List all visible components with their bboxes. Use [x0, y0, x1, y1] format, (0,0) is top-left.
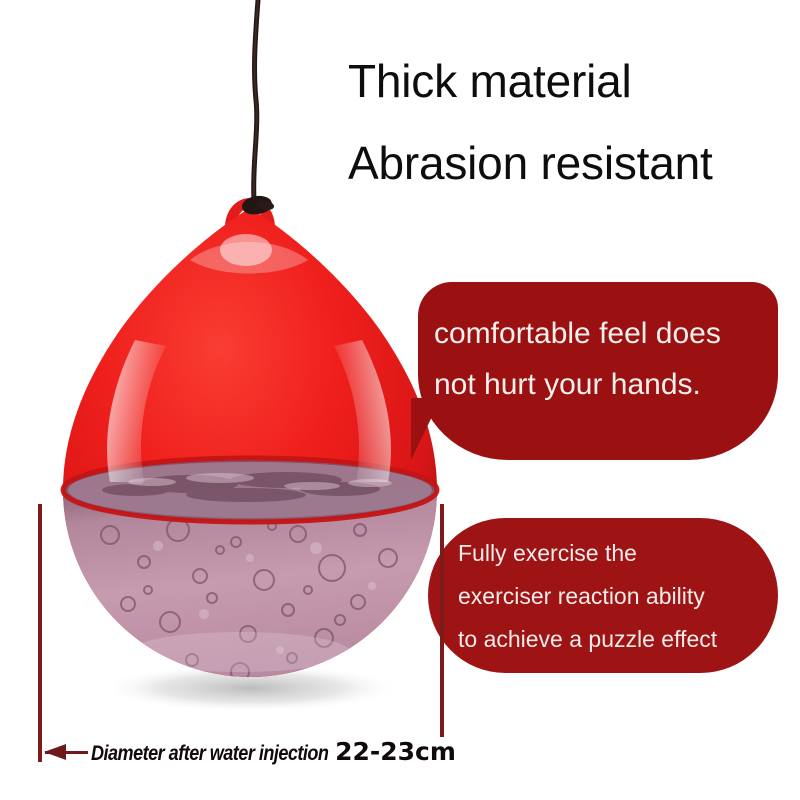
pill-callout-line-1: Fully exercise the [458, 532, 752, 575]
headline-line-2: Abrasion resistant [348, 140, 713, 186]
speech-bubble-callout: comfortable feel does not hurt your hand… [418, 282, 778, 460]
left-arrowhead-icon [44, 744, 66, 760]
pill-callout-line-2: exerciser reaction ability [458, 575, 752, 618]
pill-callout-line-3: to achieve a puzzle effect [458, 618, 752, 661]
pill-callout: Fully exercise the exerciser reaction ab… [428, 518, 778, 673]
product-marketing-image: Thick material Abrasion resistant comfor… [0, 0, 800, 800]
speech-bubble-line-2: not hurt your hands. [434, 359, 758, 410]
speech-bubble-line-1: comfortable feel does [434, 308, 758, 359]
measurement-line-left [38, 504, 42, 762]
measurement-line-right [440, 504, 444, 762]
headline-line-1: Thick material [348, 58, 632, 104]
dimension-caption-value: 22-23cm [335, 737, 456, 766]
water-filled-balloon [40, 190, 460, 750]
dimension-caption-text: Diameter after water injection [91, 742, 328, 766]
dimension-caption: Diameter after water injection 22-23cm [88, 737, 459, 766]
